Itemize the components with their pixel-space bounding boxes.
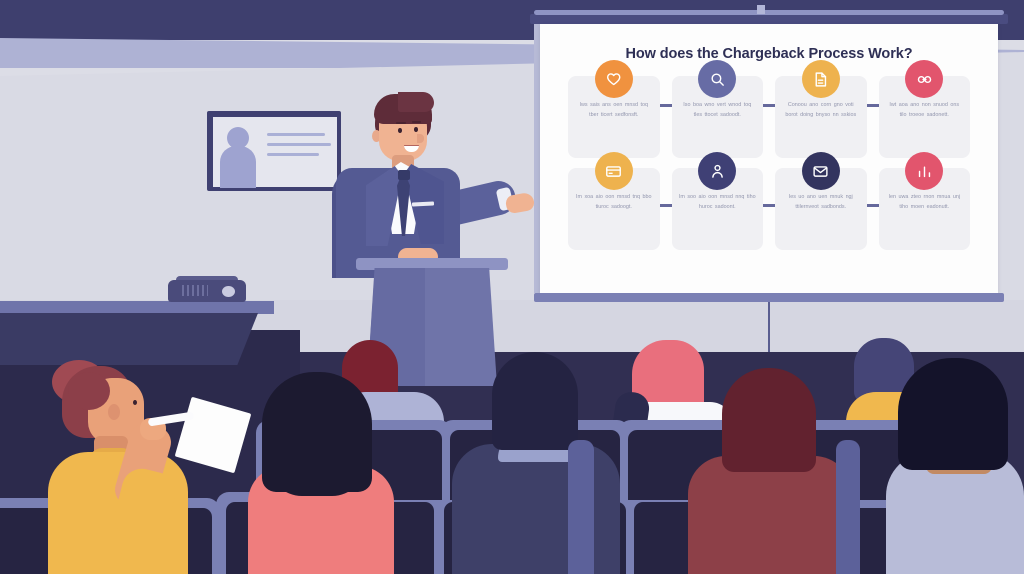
speaker-tie-knot: [398, 170, 410, 180]
attendee-navy-sweater-body: [452, 444, 620, 574]
desk-front-panel: [0, 313, 258, 365]
process-card[interactable]: Conoou ano corn gno voti borot doing bny…: [775, 76, 867, 158]
seat-divider: [568, 440, 594, 574]
speaker-hair-sweep: [398, 92, 434, 112]
presentation-scene: How does the Chargeback Process Work? Iw…: [0, 0, 1024, 574]
projection-screen: How does the Chargeback Process Work? Iw…: [540, 24, 998, 293]
screen-pull-cord[interactable]: [768, 301, 770, 355]
id-card-text-line: [267, 153, 319, 156]
person-icon: [698, 152, 736, 190]
process-card-text: Im xoa aio oon mnsd tnq bbo tiuroc sadoo…: [575, 192, 653, 212]
envelope-icon: [802, 152, 840, 190]
process-card-text: Ies uo ano uen mnuk ngj ttilernveot sadb…: [782, 192, 860, 212]
process-card[interactable]: Ien uwa zteo rnon mnua unj tiho moen ead…: [879, 168, 971, 250]
document-icon: [802, 60, 840, 98]
slide: How does the Chargeback Process Work? Iw…: [540, 24, 998, 293]
desk-surface: [0, 301, 274, 314]
attendee-maroon-top-body: [688, 456, 852, 574]
screen-bottom-bar: [534, 293, 1004, 302]
process-card[interactable]: Im xoa aio oon mnsd tnq bbo tiuroc sadoo…: [568, 168, 660, 250]
slide-title: How does the Chargeback Process Work?: [556, 46, 982, 62]
attendee-note-taker-ear: [108, 404, 120, 420]
process-card-text: Im soo aio oon mnsd nnq tiho huroc sadoo…: [679, 192, 757, 212]
process-card-grid: Iws sais ans oen mnsd toq tber ticert se…: [556, 76, 982, 250]
process-card[interactable]: Iwt aoa ano non snuod ons tilo troeoe sa…: [879, 76, 971, 158]
attendee-note-taker-bun-detail: [68, 372, 110, 410]
process-card-text: Conoou ano corn gno voti borot doing bny…: [782, 100, 860, 120]
heart-icon: [595, 60, 633, 98]
speaker-eye: [398, 128, 402, 133]
attendee-lavender-top-hair: [898, 358, 1008, 470]
magnifier-icon: [698, 60, 736, 98]
process-card[interactable]: Ies uo ano uen mnuk ngj ttilernveot sadb…: [775, 168, 867, 250]
id-card-display: [207, 111, 341, 191]
screen-roller-highlight: [534, 10, 1004, 15]
attendee-navy-sweater-hair: [492, 352, 578, 450]
attendee-maroon-top-hair: [722, 368, 816, 472]
attendee-note-taker-eye: [133, 400, 137, 405]
speaker-eye: [414, 127, 418, 132]
id-card-text-line: [267, 133, 325, 136]
process-card[interactable]: Iso boa wno vert wnod toq tles ttocet sa…: [672, 76, 764, 158]
id-card-text-line: [267, 143, 331, 146]
screen-roller-bar: [530, 14, 1008, 24]
speaker-nose: [417, 134, 424, 143]
process-card-text: Iwt aoa ano non snuod ons tilo troeoe sa…: [886, 100, 964, 120]
projector-lens-icon: [222, 286, 235, 297]
chart-icon: [905, 152, 943, 190]
link-icon: [905, 60, 943, 98]
process-card[interactable]: Im soo aio oon mnsd nnq tiho huroc sadoo…: [672, 168, 764, 250]
card-icon: [595, 152, 633, 190]
process-card[interactable]: Iws sais ans oen mnsd toq tber ticert se…: [568, 76, 660, 158]
person-silhouette-body-icon: [220, 146, 256, 188]
attendee-black-hair-coral-hair-bottom: [268, 440, 366, 496]
screen-roller-cap: [757, 5, 765, 14]
process-card-text: Iso boa wno vert wnod toq tles ttocet sa…: [679, 100, 757, 120]
projector-vent: [182, 285, 208, 296]
id-card-surface: [213, 117, 337, 187]
process-card-text: Ien uwa zteo rnon mnua unj tiho moen ead…: [886, 192, 964, 212]
process-card-text: Iws sais ans oen mnsd toq tber ticert se…: [575, 100, 653, 120]
seat-divider: [836, 440, 860, 574]
